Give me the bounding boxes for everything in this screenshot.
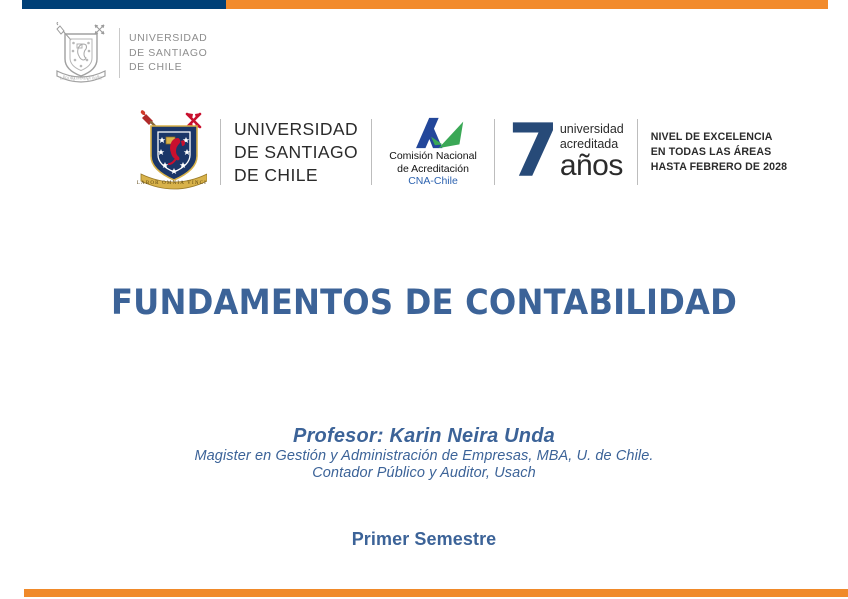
top-accent-bar-blue	[22, 0, 226, 9]
acc-usach-line-1: UNIVERSIDAD	[234, 118, 358, 141]
svg-text:LABOR OMNIA VINCIT: LABOR OMNIA VINCIT	[137, 181, 207, 186]
svg-text:LABOR OMNIA VINCIT: LABOR OMNIA VINCIT	[60, 76, 103, 81]
excellence-line-1: NIVEL DE EXCELENCIA	[651, 130, 787, 145]
bottom-accent-bar-orange	[24, 589, 848, 597]
header-wordmark: UNIVERSIDAD DE SANTIAGO DE CHILE	[129, 31, 207, 75]
accreditation-divider-3	[494, 119, 495, 185]
header-wordmark-line-1: UNIVERSIDAD	[129, 31, 207, 46]
accreditation-divider-4	[637, 119, 638, 185]
usach-crest-icon: LABOR OMNIA VINCIT	[52, 22, 110, 84]
acc-usach-line-2: DE SANTIAGO	[234, 141, 358, 164]
accredited-word-3: años	[560, 151, 624, 181]
accredited-years-number: 7	[508, 121, 556, 183]
professor-info-block: Profesor: Karin Neira Unda Magister en G…	[0, 424, 848, 482]
header-wordmark-line-3: DE CHILE	[129, 60, 207, 75]
header-wordmark-line-2: DE SANTIAGO	[129, 46, 207, 61]
excellence-line-2: EN TODAS LAS ÁREAS	[651, 145, 787, 160]
cna-chile-logo: Comisión Nacional de Acreditación CNA-Ch…	[385, 116, 481, 188]
accreditation-divider-2	[371, 119, 372, 185]
excellence-line-3: HASTA FEBRERO DE 2028	[651, 160, 787, 175]
header-university-logo: LABOR OMNIA VINCIT UNIVERSIDAD DE SANTIA…	[52, 22, 207, 84]
usach-crest-color-icon: LABOR OMNIA VINCIT	[137, 110, 207, 194]
accreditation-divider-1	[220, 119, 221, 185]
top-accent-bar-orange	[226, 0, 828, 9]
header-logo-divider	[119, 28, 120, 78]
professor-degree-line-2: Contador Público y Auditor, Usach	[0, 465, 848, 482]
cna-line-3: CNA-Chile	[408, 175, 458, 188]
cna-chile-logo-icon	[395, 116, 471, 150]
cna-line-1: Comisión Nacional	[389, 150, 477, 163]
accredited-word-1: universidad	[560, 122, 624, 137]
accreditation-banner: LABOR OMNIA VINCIT UNIVERSIDAD DE SANTIA…	[137, 108, 787, 196]
accreditation-usach-wordmark: UNIVERSIDAD DE SANTIAGO DE CHILE	[234, 118, 358, 187]
acc-usach-line-3: DE CHILE	[234, 164, 358, 187]
semester-label: Primer Semestre	[0, 529, 848, 550]
professor-degree-line-1: Magister en Gestión y Administración de …	[0, 448, 848, 465]
excellence-level-text: NIVEL DE EXCELENCIA EN TODAS LAS ÁREAS H…	[651, 130, 787, 175]
accredited-years-badge: 7 universidad acreditada años	[508, 121, 624, 183]
slide-title: FUNDAMENTOS DE CONTABILIDAD	[34, 283, 814, 323]
cna-line-2: de Acreditación	[397, 163, 469, 176]
accredited-years-words: universidad acreditada años	[560, 122, 624, 183]
professor-name: Profesor: Karin Neira Unda	[0, 424, 848, 448]
